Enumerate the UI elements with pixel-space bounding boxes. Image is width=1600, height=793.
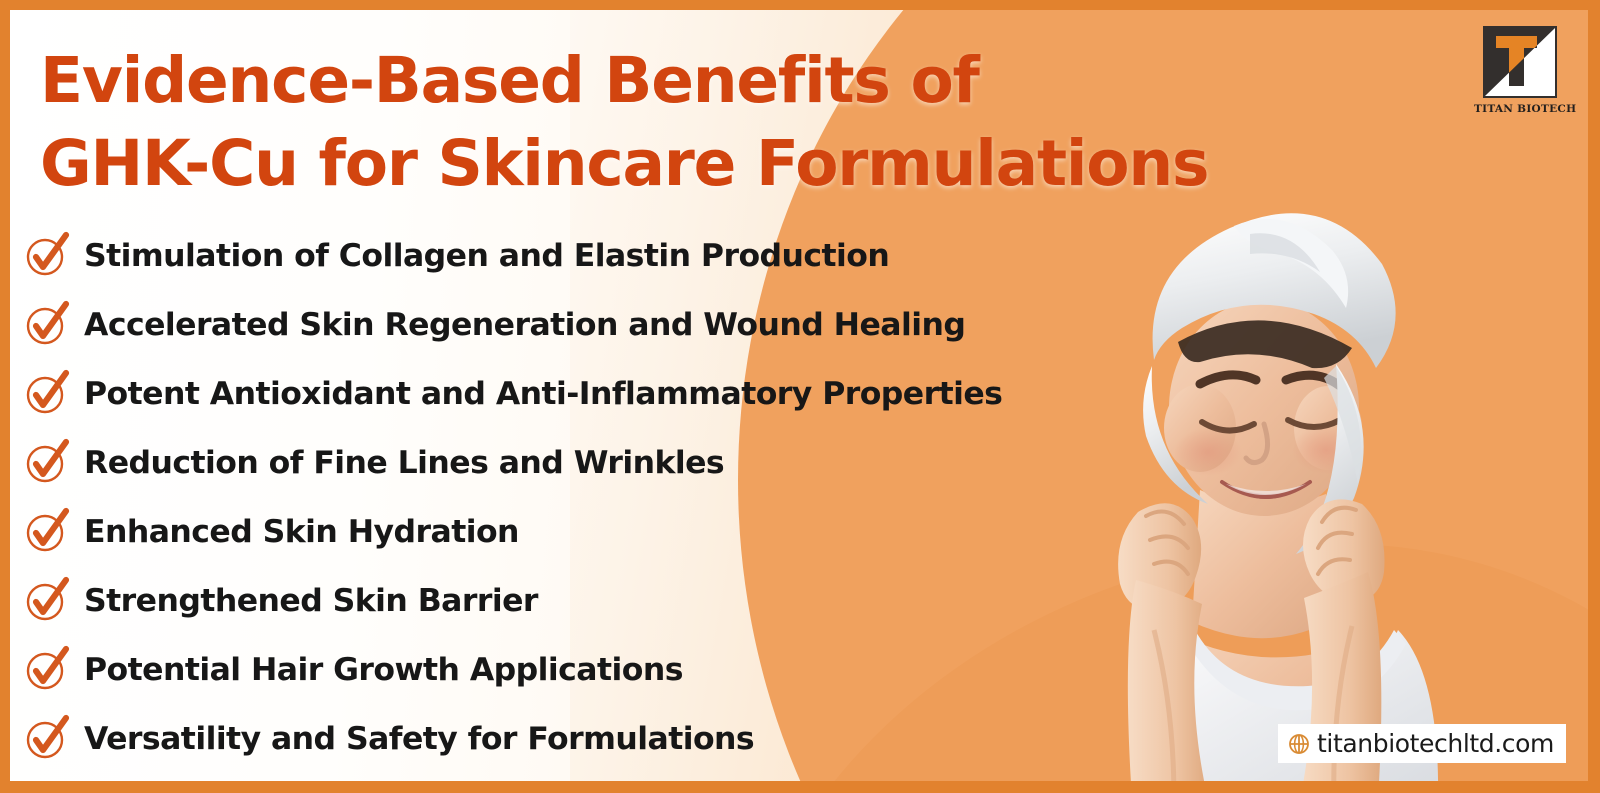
globe-icon <box>1288 733 1310 755</box>
list-item-label: Strengthened Skin Barrier <box>84 583 538 619</box>
list-item: Accelerated Skin Regeneration and Wound … <box>24 290 1204 359</box>
list-item: Strengthened Skin Barrier <box>24 566 1204 635</box>
list-item: Potent Antioxidant and Anti-Inflammatory… <box>24 359 1204 428</box>
list-item: Enhanced Skin Hydration <box>24 497 1204 566</box>
website-badge[interactable]: titanbiotechltd.com <box>1278 724 1566 763</box>
check-circle-icon <box>24 717 68 761</box>
list-item-label: Potent Antioxidant and Anti-Inflammatory… <box>84 376 1002 412</box>
check-circle-icon <box>24 441 68 485</box>
page-title: Evidence-Based Benefits of GHK-Cu for Sk… <box>40 40 1370 205</box>
list-item-label: Reduction of Fine Lines and Wrinkles <box>84 445 724 481</box>
brand-wordmark: TITAN BIOTECH <box>1474 103 1566 115</box>
list-item: Reduction of Fine Lines and Wrinkles <box>24 428 1204 497</box>
list-item: Versatility and Safety for Formulations <box>24 704 1204 773</box>
list-item: Stimulation of Collagen and Elastin Prod… <box>24 221 1204 290</box>
titan-biotech-logo-icon <box>1481 26 1559 100</box>
check-circle-icon <box>24 234 68 278</box>
check-circle-icon <box>24 579 68 623</box>
check-circle-icon <box>24 510 68 554</box>
list-item-label: Versatility and Safety for Formulations <box>84 721 754 757</box>
list-item-label: Accelerated Skin Regeneration and Wound … <box>84 307 965 343</box>
poster-canvas: Evidence-Based Benefits of GHK-Cu for Sk… <box>10 10 1588 781</box>
list-item-label: Enhanced Skin Hydration <box>84 514 519 550</box>
brand-logo[interactable]: TITAN BIOTECH <box>1474 26 1566 115</box>
check-circle-icon <box>24 372 68 416</box>
infographic-poster: Evidence-Based Benefits of GHK-Cu for Sk… <box>0 0 1600 793</box>
website-url: titanbiotechltd.com <box>1317 729 1554 758</box>
list-item-label: Potential Hair Growth Applications <box>84 652 683 688</box>
check-circle-icon <box>24 648 68 692</box>
benefits-list: Stimulation of Collagen and Elastin Prod… <box>24 221 1204 773</box>
list-item: Potential Hair Growth Applications <box>24 635 1204 704</box>
list-item-label: Stimulation of Collagen and Elastin Prod… <box>84 238 889 274</box>
check-circle-icon <box>24 303 68 347</box>
